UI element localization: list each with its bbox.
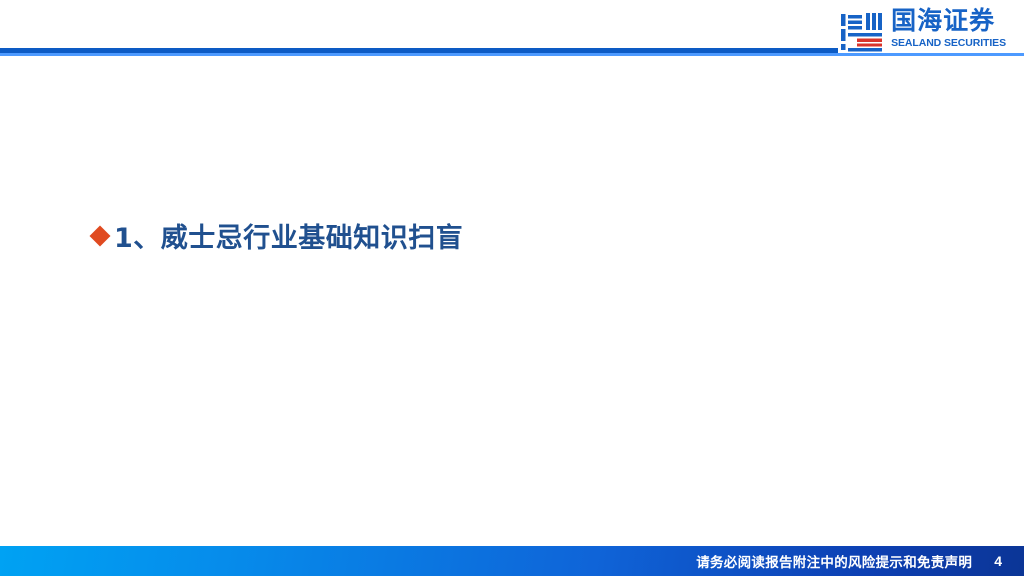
- section-heading-label: 1、威士忌行业基础知识扫盲: [114, 216, 463, 255]
- page-number: 4: [994, 553, 1002, 569]
- presentation-slide: 国海证券 SEALAND SECURITIES 1、威士忌行业基础知识扫盲 请务…: [0, 0, 1024, 576]
- sealand-logo-mark-icon: [840, 11, 884, 53]
- slide-header: 国海证券 SEALAND SECURITIES: [0, 0, 1024, 76]
- brand-text: 国海证券 SEALAND SECURITIES: [891, 8, 1006, 49]
- brand-name-cn: 国海证券: [891, 8, 995, 33]
- footer-disclaimer: 请务必阅读报告附注中的风险提示和免责声明: [696, 551, 972, 571]
- brand-name-en: SEALAND SECURITIES: [891, 38, 1006, 49]
- slide-content: 1、威士忌行业基础知识扫盲: [0, 76, 1024, 546]
- diamond-icon: [88, 224, 112, 248]
- slide-footer: 请务必阅读报告附注中的风险提示和免责声明 4: [0, 546, 1024, 576]
- header-rule-secondary: [0, 53, 1024, 56]
- brand-logo: 国海证券 SEALAND SECURITIES: [840, 8, 1006, 53]
- section-heading: 1、威士忌行业基础知识扫盲: [88, 216, 463, 255]
